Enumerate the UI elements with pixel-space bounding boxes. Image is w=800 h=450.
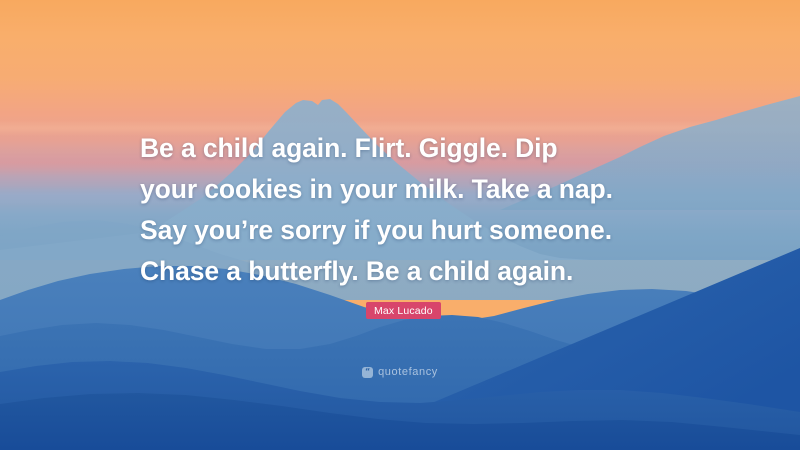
author-name: Max Lucado: [374, 305, 433, 317]
quote-mark-icon: “: [362, 367, 373, 378]
author-badge[interactable]: Max Lucado: [366, 302, 441, 319]
quote-poster: Be a child again. Flirt. Giggle. Dip you…: [0, 0, 800, 450]
brand-name: quotefancy: [378, 366, 438, 378]
quotefancy-watermark[interactable]: “ quotefancy: [0, 366, 800, 378]
quote-text: Be a child again. Flirt. Giggle. Dip you…: [140, 128, 680, 292]
